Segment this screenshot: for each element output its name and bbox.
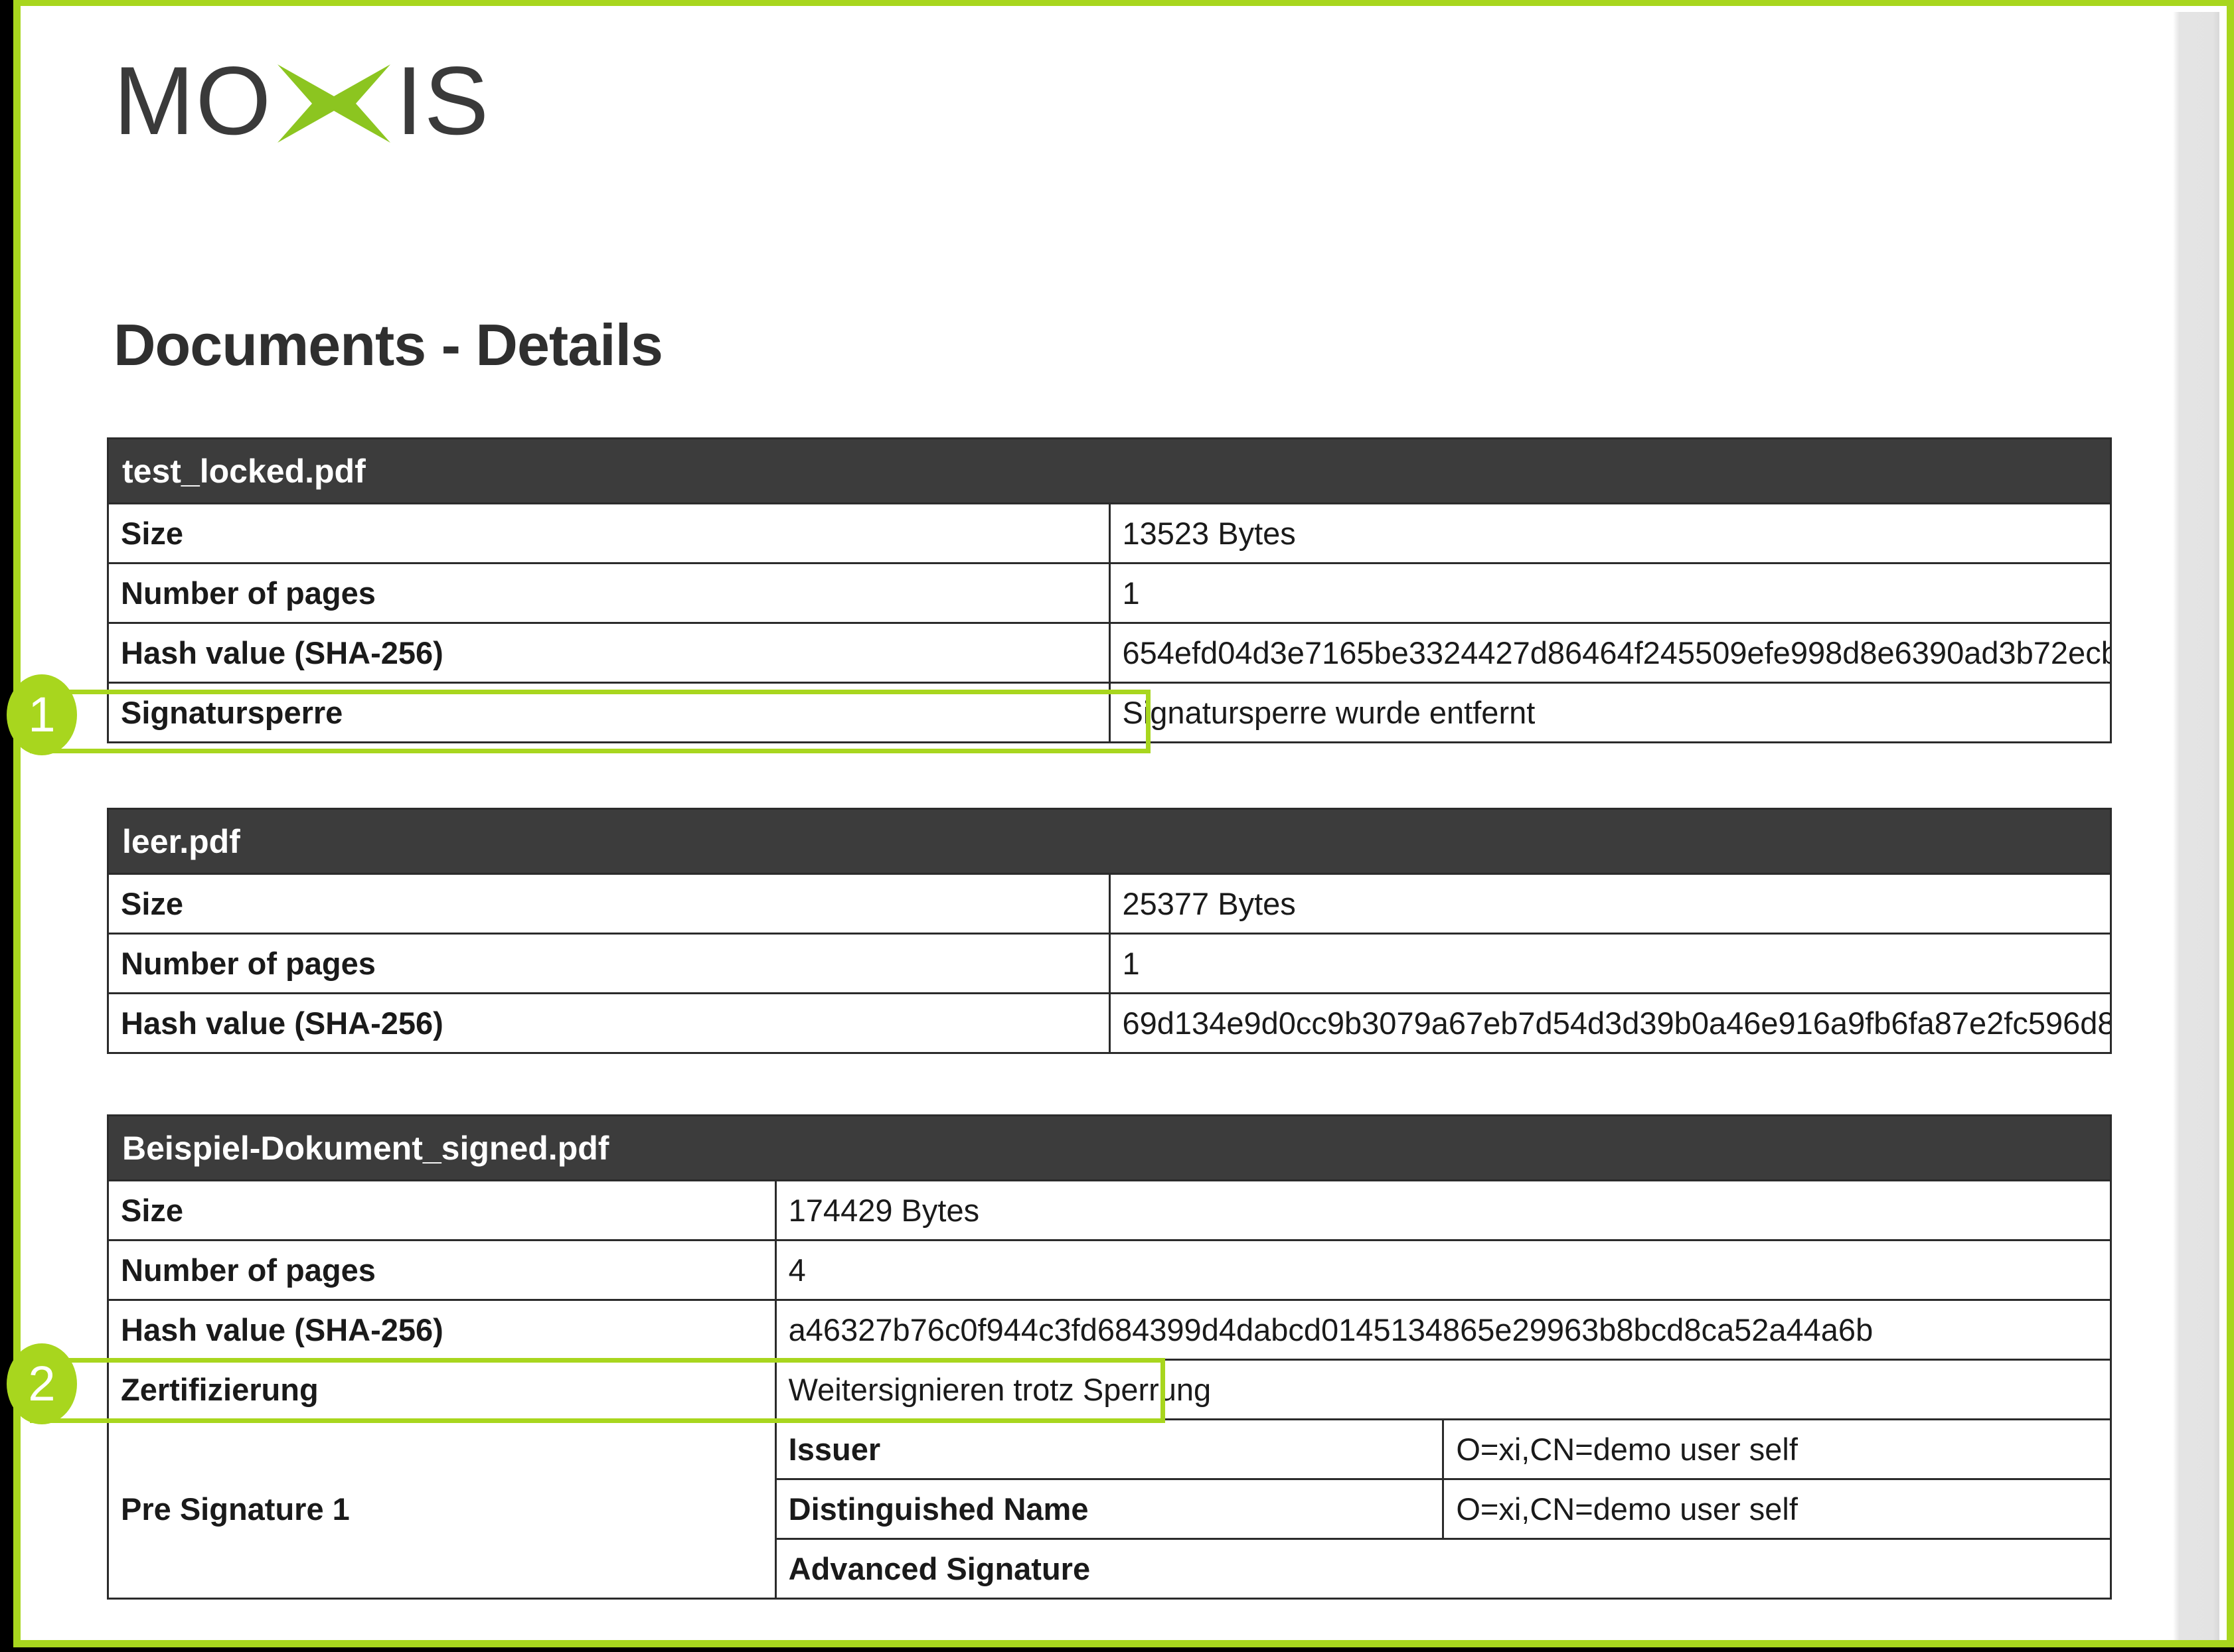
table-row: Number of pages 4 bbox=[108, 1240, 2111, 1300]
table-row: Number of pages 1 bbox=[108, 563, 2111, 623]
row-label: Number of pages bbox=[108, 934, 1110, 994]
callout-badge-2: 2 bbox=[7, 1343, 77, 1424]
row-label: Size bbox=[108, 504, 1110, 563]
document-filename: test_locked.pdf bbox=[108, 439, 2111, 504]
signature-field-value: O=xi,CN=demo user self bbox=[1443, 1420, 2111, 1479]
row-label: Hash value (SHA-256) bbox=[108, 623, 1110, 683]
page-title: Documents - Details bbox=[114, 311, 663, 379]
row-value: Signatursperre wurde entfernt bbox=[1109, 683, 2111, 743]
row-value: 4 bbox=[775, 1240, 2111, 1300]
logo-text-right: IS bbox=[396, 52, 490, 149]
signature-row: Pre Signature 1 Issuer O=xi,CN=demo user… bbox=[108, 1420, 2111, 1479]
table-row: Hash value (SHA-256) a46327b76c0f944c3fd… bbox=[108, 1300, 2111, 1360]
table-row: Size 25377 Bytes bbox=[108, 874, 2111, 934]
table-row: Size 13523 Bytes bbox=[108, 504, 2111, 563]
row-label: Number of pages bbox=[108, 563, 1110, 623]
row-label: Signatursperre bbox=[108, 683, 1110, 743]
row-label: Hash value (SHA-256) bbox=[108, 1300, 776, 1360]
table-row-highlighted: Signatursperre Signatursperre wurde entf… bbox=[108, 683, 2111, 743]
row-value: a46327b76c0f944c3fd684399d4dabcd01451348… bbox=[775, 1300, 2111, 1360]
signature-field-value: O=xi,CN=demo user self bbox=[1443, 1479, 2111, 1539]
row-label: Hash value (SHA-256) bbox=[108, 994, 1110, 1053]
document-page-frame: MO IS Documents - Details test_locked.pd… bbox=[13, 0, 2234, 1647]
row-value: 654efd04d3e7165be3324427d86464f245509efe… bbox=[1109, 623, 2111, 683]
row-label: Number of pages bbox=[108, 1240, 776, 1300]
signature-group-label: Pre Signature 1 bbox=[108, 1420, 776, 1599]
callout-badge-1: 1 bbox=[7, 674, 77, 755]
row-label: Zertifizierung bbox=[108, 1360, 776, 1420]
table-row: Number of pages 1 bbox=[108, 934, 2111, 994]
table-header-row: Beispiel-Dokument_signed.pdf bbox=[108, 1116, 2111, 1181]
row-value: 1 bbox=[1109, 934, 2111, 994]
document-details-table-2: leer.pdf Size 25377 Bytes Number of page… bbox=[107, 808, 2112, 1054]
signature-field-label: Issuer bbox=[775, 1420, 1443, 1479]
screenshot-root: MO IS Documents - Details test_locked.pd… bbox=[0, 0, 2234, 1652]
logo-text-left: MO bbox=[114, 52, 272, 149]
row-value: 13523 Bytes bbox=[1109, 504, 2111, 563]
table-row: Hash value (SHA-256) 69d134e9d0cc9b3079a… bbox=[108, 994, 2111, 1053]
row-label: Size bbox=[108, 1181, 776, 1240]
moxis-logo: MO IS bbox=[114, 58, 490, 144]
row-value: 1 bbox=[1109, 563, 2111, 623]
signature-field-label: Advanced Signature bbox=[775, 1539, 2111, 1599]
page-scrollbar[interactable] bbox=[2173, 12, 2219, 1646]
x-mark-icon bbox=[278, 64, 390, 143]
signature-field-label: Distinguished Name bbox=[775, 1479, 1443, 1539]
row-value: 25377 Bytes bbox=[1109, 874, 2111, 934]
document-details-table-1: test_locked.pdf Size 13523 Bytes Number … bbox=[107, 437, 2112, 743]
row-label: Size bbox=[108, 874, 1110, 934]
document-details-table-3: Beispiel-Dokument_signed.pdf Size 174429… bbox=[107, 1114, 2112, 1600]
table-header-row: test_locked.pdf bbox=[108, 439, 2111, 504]
table-row: Size 174429 Bytes bbox=[108, 1181, 2111, 1240]
table-row-highlighted: Zertifizierung Weitersignieren trotz Spe… bbox=[108, 1360, 2111, 1420]
document-filename: Beispiel-Dokument_signed.pdf bbox=[108, 1116, 2111, 1181]
row-value: Weitersignieren trotz Sperrung bbox=[775, 1360, 2111, 1420]
document-filename: leer.pdf bbox=[108, 809, 2111, 874]
row-value: 174429 Bytes bbox=[775, 1181, 2111, 1240]
row-value: 69d134e9d0cc9b3079a67eb7d54d3d39b0a46e91… bbox=[1109, 994, 2111, 1053]
table-header-row: leer.pdf bbox=[108, 809, 2111, 874]
table-row: Hash value (SHA-256) 654efd04d3e7165be33… bbox=[108, 623, 2111, 683]
